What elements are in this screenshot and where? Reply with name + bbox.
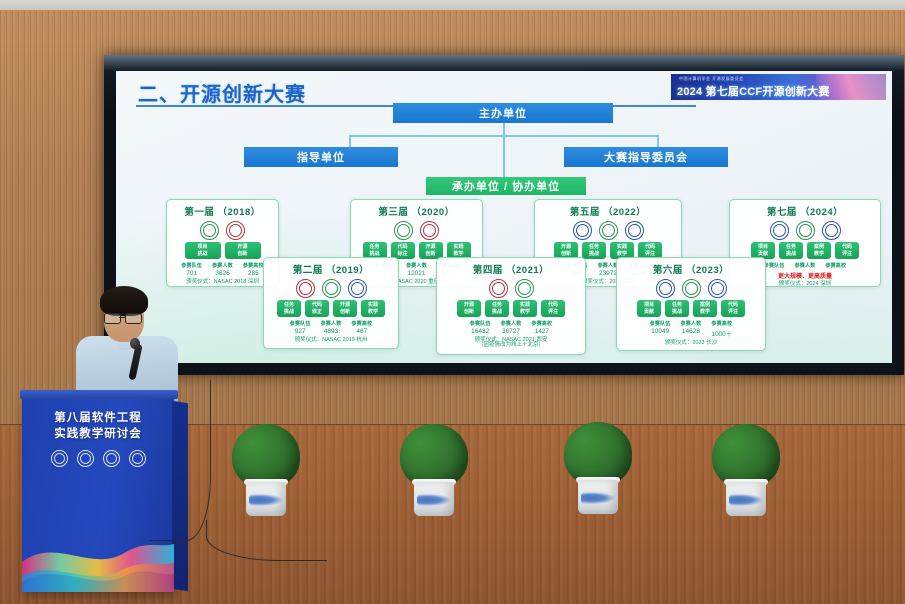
- porcelain-pot: [246, 482, 286, 516]
- potted-plant: [712, 424, 780, 519]
- floor-cable: [150, 380, 211, 541]
- edition-tags: 开源 创新 任务 挑战 实践 教学 代码 评注: [437, 300, 585, 317]
- stat-teams: 参赛队伍: [764, 262, 785, 269]
- university-seal-icon: [420, 221, 439, 240]
- stat-value: 14628: [681, 328, 702, 335]
- edition-stats: 参赛队伍 927 参赛人数 4893 参赛高校 467: [264, 320, 398, 335]
- stat-value: 467: [351, 328, 372, 335]
- edition-tag[interactable]: 任务 挑战: [485, 300, 509, 317]
- edition-title: 第七届 （2024）: [730, 204, 880, 218]
- stat-people: 参赛人数 4893: [321, 320, 342, 335]
- eyeglasses-right-lens-icon: [125, 313, 142, 324]
- org-connector-left-vert: [349, 135, 351, 147]
- ccf-logo-icon: [394, 221, 413, 240]
- edition-tag[interactable]: 开源 创新: [457, 300, 481, 317]
- partner-logo-icon: [708, 279, 727, 298]
- stat-people: 参赛人数 14628: [681, 320, 702, 338]
- edition-tag[interactable]: 实践 教学: [513, 300, 537, 317]
- university-logo-icon: [51, 450, 68, 467]
- stat-label: 参赛高校: [243, 262, 264, 269]
- ccf-logo-icon: [656, 279, 675, 298]
- stat-schools: 参赛高校: [825, 262, 846, 269]
- ccf-logo-icon: [770, 221, 789, 240]
- stat-value: 4893: [321, 328, 342, 335]
- porcelain-pot: [578, 480, 618, 514]
- org-box-organizer[interactable]: 承办单位 / 协办单位: [426, 177, 586, 195]
- stat-value: 285: [243, 270, 264, 277]
- stat-value: 16432: [470, 328, 491, 335]
- edition-ceremony: 颁奖仪式：NASAC 2018 深圳: [167, 279, 278, 289]
- edition-card[interactable]: 第四届 （2021） 开源 创新 任务 挑战 实践 教学 代码 评注 参赛队伍 …: [436, 257, 586, 355]
- edition-tag[interactable]: 代码 修正: [305, 300, 329, 317]
- org-connector-mid-vert: [503, 135, 505, 179]
- edition-tag[interactable]: 代码 评注: [541, 300, 565, 317]
- university-logo-icon: [103, 450, 120, 467]
- stat-people: 参赛人数 36727: [501, 320, 522, 335]
- stat-label: 参赛人数: [501, 320, 522, 327]
- edition-tags: 项目 挑战 开源 创新: [167, 242, 278, 259]
- stat-label: 参赛队伍: [650, 320, 671, 327]
- org-box-steering-committee[interactable]: 大赛指导委员会: [564, 147, 728, 167]
- stat-label: 参赛队伍: [181, 262, 202, 269]
- edition-tag[interactable]: 开源 创新: [225, 242, 261, 259]
- org-box-host[interactable]: 主办单位: [393, 103, 613, 123]
- university-logo-icon: [77, 450, 94, 467]
- stat-schools: 参赛高校 1427: [531, 320, 552, 335]
- stat-label: 参赛高校: [825, 262, 846, 269]
- stat-value: 10049: [650, 328, 671, 335]
- partner-logo-icon: [625, 221, 644, 240]
- edition-ceremony: 颁奖仪式：NASAC 2019 杭州: [264, 337, 398, 347]
- edition-note: （因疫情改为线上＋北京）: [437, 342, 585, 352]
- ccf-logo-icon: [515, 279, 534, 298]
- stat-teams: 参赛队伍 10049: [650, 320, 671, 338]
- potted-plant: [400, 424, 468, 519]
- stat-people: 参赛人数: [795, 262, 816, 269]
- potted-plant: [232, 424, 300, 519]
- edition-tag[interactable]: 任务 挑战: [277, 300, 301, 317]
- partner-logo-icon: [348, 279, 367, 298]
- porcelain-pot: [726, 482, 766, 516]
- edition-tag[interactable]: 任务 挑战: [665, 300, 689, 317]
- edition-logos: [437, 279, 585, 298]
- edition-title: 第四届 （2021）: [437, 262, 585, 276]
- university-seal-icon: [296, 279, 315, 298]
- stat-label: 参赛人数: [795, 262, 816, 269]
- stat-label: 参赛高校: [531, 320, 552, 327]
- edition-ceremony: 颁奖仪式：2023 长沙: [617, 340, 765, 350]
- stat-value: 1000＋: [711, 328, 732, 338]
- edition-stats: 参赛队伍 16432 参赛人数 36727 参赛高校 1427: [437, 320, 585, 335]
- edition-stats: 参赛队伍 701 参赛人数 3626 参赛高校 285: [167, 262, 278, 277]
- university-seal-icon: [489, 279, 508, 298]
- edition-tag[interactable]: 实践 教学: [361, 300, 385, 317]
- edition-logos: [535, 221, 681, 240]
- banner-title: 2024 第七届CCF开源创新大赛: [677, 83, 830, 99]
- stat-schools: 参赛高校 467: [351, 320, 372, 335]
- edition-title: 第一届 （2018）: [167, 204, 278, 218]
- edition-tags: 项目 贡献 任务 挑战 案例 教学 代码 评注: [617, 300, 765, 317]
- stat-teams: 参赛队伍 701: [181, 262, 202, 277]
- sponsor-logo-icon: [129, 450, 146, 467]
- edition-tag[interactable]: 案例 教学: [807, 242, 831, 259]
- stat-label: 参赛人数: [212, 262, 233, 269]
- edition-card[interactable]: 第二届 （2019） 任务 挑战 代码 修正 开源 创新 实践 教学 参赛队伍 …: [263, 257, 399, 349]
- opensource-logo-icon: [599, 221, 618, 240]
- slide-heading: 二、开源创新大赛: [138, 78, 306, 107]
- ccf-logo-icon: [573, 221, 592, 240]
- edition-tag[interactable]: 代码 评注: [721, 300, 745, 317]
- edition-tag[interactable]: 任务 挑战: [582, 242, 606, 259]
- microphone-head-icon: [130, 338, 140, 349]
- edition-title: 第五届 （2022）: [535, 204, 681, 218]
- edition-card[interactable]: 第六届 （2023） 项目 贡献 任务 挑战 案例 教学 代码 评注 参赛队伍 …: [616, 257, 766, 351]
- stat-schools: 参赛高校 1000＋: [711, 320, 732, 338]
- edition-logos: [264, 279, 398, 298]
- opensource-logo-icon: [682, 279, 701, 298]
- ccf-logo-icon: [200, 221, 219, 240]
- stat-teams: 参赛队伍 16432: [470, 320, 491, 335]
- porcelain-pot: [414, 482, 454, 516]
- edition-tags: 任务 挑战 代码 修正 开源 创新 实践 教学: [264, 300, 398, 317]
- stat-label: 参赛高校: [711, 320, 732, 327]
- opensource-logo-icon: [796, 221, 815, 240]
- partner-logo-icon: [822, 221, 841, 240]
- edition-tag[interactable]: 案例 教学: [693, 300, 717, 317]
- stat-value: 12021: [406, 270, 427, 277]
- stat-label: 参赛人数: [321, 320, 342, 327]
- stat-value: 701: [181, 270, 202, 277]
- stat-schools: 参赛高校 285: [243, 262, 264, 277]
- edition-tag[interactable]: 项目 挑战: [185, 242, 221, 259]
- stat-value: 927: [290, 328, 311, 335]
- edition-title: 第三届 （2020）: [351, 204, 482, 218]
- banner-subtitle: 中国计算机学会 开源发展委员会: [679, 76, 744, 82]
- edition-title: 第六届 （2023）: [617, 262, 765, 276]
- stat-teams: 参赛队伍 927: [290, 320, 311, 335]
- eyeglasses-bridge: [119, 317, 125, 318]
- speaker-hair: [100, 286, 148, 316]
- screen-bezel-gloss: [104, 55, 904, 71]
- stat-label: 参赛队伍: [470, 320, 491, 327]
- edition-title: 第二届 （2019）: [264, 262, 398, 276]
- ceiling: [0, 0, 905, 10]
- presentation-slide: 二、开源创新大赛 中国计算机学会 开源发展委员会 2024 第七届CCF开源创新…: [116, 71, 892, 363]
- stat-value: 3626: [212, 270, 233, 277]
- stat-value: 1427: [531, 328, 552, 335]
- stat-label: 参赛队伍: [290, 320, 311, 327]
- stat-people: 参赛人数 12021: [406, 262, 427, 277]
- edition-logos: [730, 221, 880, 240]
- university-seal-icon: [226, 221, 245, 240]
- presentation-scene: 二、开源创新大赛 中国计算机学会 开源发展委员会 2024 第七届CCF开源创新…: [0, 0, 905, 604]
- edition-tag[interactable]: 任务 挑战: [779, 242, 803, 259]
- ccf-logo-icon: [322, 279, 341, 298]
- stat-label: 参赛人数: [681, 320, 702, 327]
- stat-label: 参赛队伍: [764, 262, 785, 269]
- eyeglasses-left-lens-icon: [104, 313, 121, 324]
- edition-tag[interactable]: 开源 创新: [333, 300, 357, 317]
- event-banner: 中国计算机学会 开源发展委员会 2024 第七届CCF开源创新大赛: [671, 74, 886, 100]
- stat-people: 参赛人数 3626: [212, 262, 233, 277]
- edition-stats: 参赛队伍 10049 参赛人数 14628 参赛高校 1000＋: [617, 320, 765, 338]
- edition-tag[interactable]: 项目 贡献: [637, 300, 661, 317]
- edition-tag[interactable]: 代码 评注: [835, 242, 859, 259]
- stat-label: 参赛人数: [406, 262, 427, 269]
- potted-plant: [564, 422, 632, 517]
- org-connector-right-vert: [657, 135, 659, 147]
- edition-logos: [167, 221, 278, 240]
- edition-logos: [617, 279, 765, 298]
- stat-label: 参赛高校: [351, 320, 372, 327]
- stat-value: 36727: [501, 328, 522, 335]
- edition-logos: [351, 221, 482, 240]
- org-box-guidance-unit[interactable]: 指导单位: [244, 147, 398, 167]
- led-screen: 二、开源创新大赛 中国计算机学会 开源发展委员会 2024 第七届CCF开源创新…: [104, 55, 904, 375]
